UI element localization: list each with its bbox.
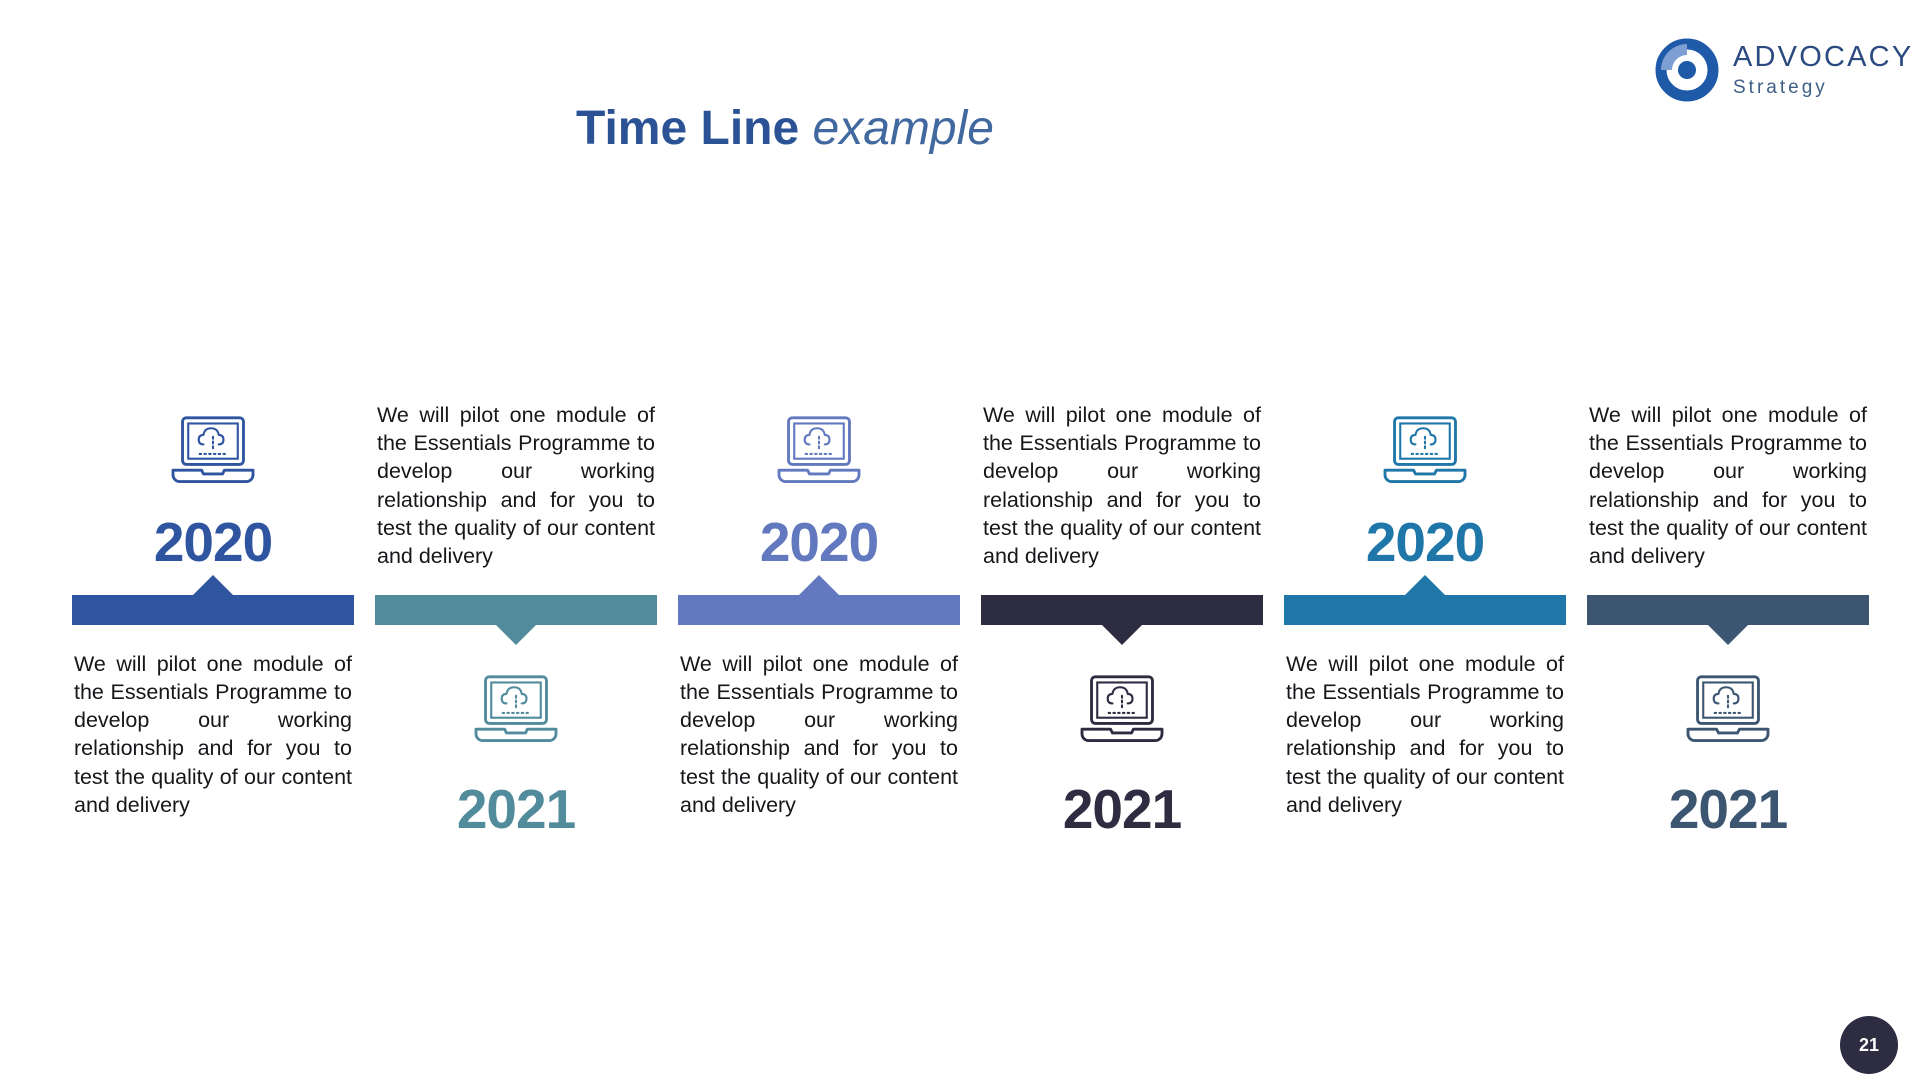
timeline-description-text: We will pilot one module of the Essentia…	[377, 401, 655, 570]
timeline-milestone-marker[interactable]: 2020	[1284, 280, 1566, 570]
timeline-column: We will pilot one module of the Essentia…	[375, 280, 657, 960]
timeline-year-label: 2020	[1366, 515, 1484, 570]
slide-title-main: Time Line	[576, 102, 813, 155]
target-ring-icon	[1655, 38, 1719, 102]
timeline-milestone-marker[interactable]: 2021	[981, 650, 1263, 972]
timeline-year-label: 2021	[1063, 782, 1181, 837]
timeline-panel-bottom: 2021	[1587, 650, 1869, 950]
timeline-column: We will pilot one module of the Essentia…	[1587, 280, 1869, 960]
brand-wordmark: ADVOCACY Strategy	[1733, 43, 1913, 97]
timeline-description-text: We will pilot one module of the Essentia…	[1589, 401, 1867, 570]
timeline-milestone-marker[interactable]: 2021	[375, 650, 657, 972]
timeline-panel-top: We will pilot one module of the Essentia…	[981, 280, 1263, 570]
timeline-description-text: We will pilot one module of the Essentia…	[983, 401, 1261, 570]
laptop-cloud-download-icon	[165, 413, 261, 493]
timeline-column: 2020We will pilot one module of the Esse…	[678, 280, 960, 960]
timeline-column: 2020We will pilot one module of the Esse…	[1284, 280, 1566, 960]
slide-title-accent: example	[813, 102, 994, 155]
brand-name-primary: ADVOCACY	[1733, 43, 1913, 72]
laptop-cloud-download-icon	[1680, 672, 1776, 752]
timeline-panel-bottom: We will pilot one module of the Essentia…	[1284, 650, 1566, 950]
timeline-panel-bottom: We will pilot one module of the Essentia…	[678, 650, 960, 950]
timeline-panel-top: 2020	[1284, 280, 1566, 570]
timeline-year-label: 2020	[154, 515, 272, 570]
timeline-description-text: We will pilot one module of the Essentia…	[1286, 650, 1564, 819]
timeline-container: 2020We will pilot one module of the Esse…	[72, 280, 1872, 960]
timeline-panel-bottom: 2021	[375, 650, 657, 950]
timeline-milestone-marker[interactable]: 2021	[1587, 650, 1869, 972]
brand-logo: ADVOCACY Strategy	[1655, 30, 1905, 110]
timeline-panel-bottom: We will pilot one module of the Essentia…	[72, 650, 354, 950]
timeline-milestone-marker[interactable]: 2020	[72, 280, 354, 570]
timeline-panel-top: We will pilot one module of the Essentia…	[1587, 280, 1869, 570]
timeline-year-label: 2021	[1669, 782, 1787, 837]
laptop-cloud-download-icon	[1377, 413, 1473, 493]
timeline-panel-top: 2020	[678, 280, 960, 570]
laptop-cloud-download-icon	[468, 672, 564, 752]
timeline-panel-top: 2020	[72, 280, 354, 570]
timeline-column: 2020We will pilot one module of the Esse…	[72, 280, 354, 960]
page-number-label: 21	[1859, 1035, 1879, 1056]
timeline-description-text: We will pilot one module of the Essentia…	[680, 650, 958, 819]
timeline-panel-bottom: 2021	[981, 650, 1263, 950]
timeline-panel-top: We will pilot one module of the Essentia…	[375, 280, 657, 570]
brand-name-secondary: Strategy	[1733, 78, 1913, 97]
laptop-cloud-download-icon	[1074, 672, 1170, 752]
timeline-milestone-marker[interactable]: 2020	[678, 280, 960, 570]
slide-title: Time Line example	[0, 105, 1570, 153]
laptop-cloud-download-icon	[771, 413, 867, 493]
timeline-year-label: 2020	[760, 515, 878, 570]
timeline-column: We will pilot one module of the Essentia…	[981, 280, 1263, 960]
page-number-badge: 21	[1840, 1016, 1898, 1074]
timeline-year-label: 2021	[457, 782, 575, 837]
timeline-description-text: We will pilot one module of the Essentia…	[74, 650, 352, 819]
